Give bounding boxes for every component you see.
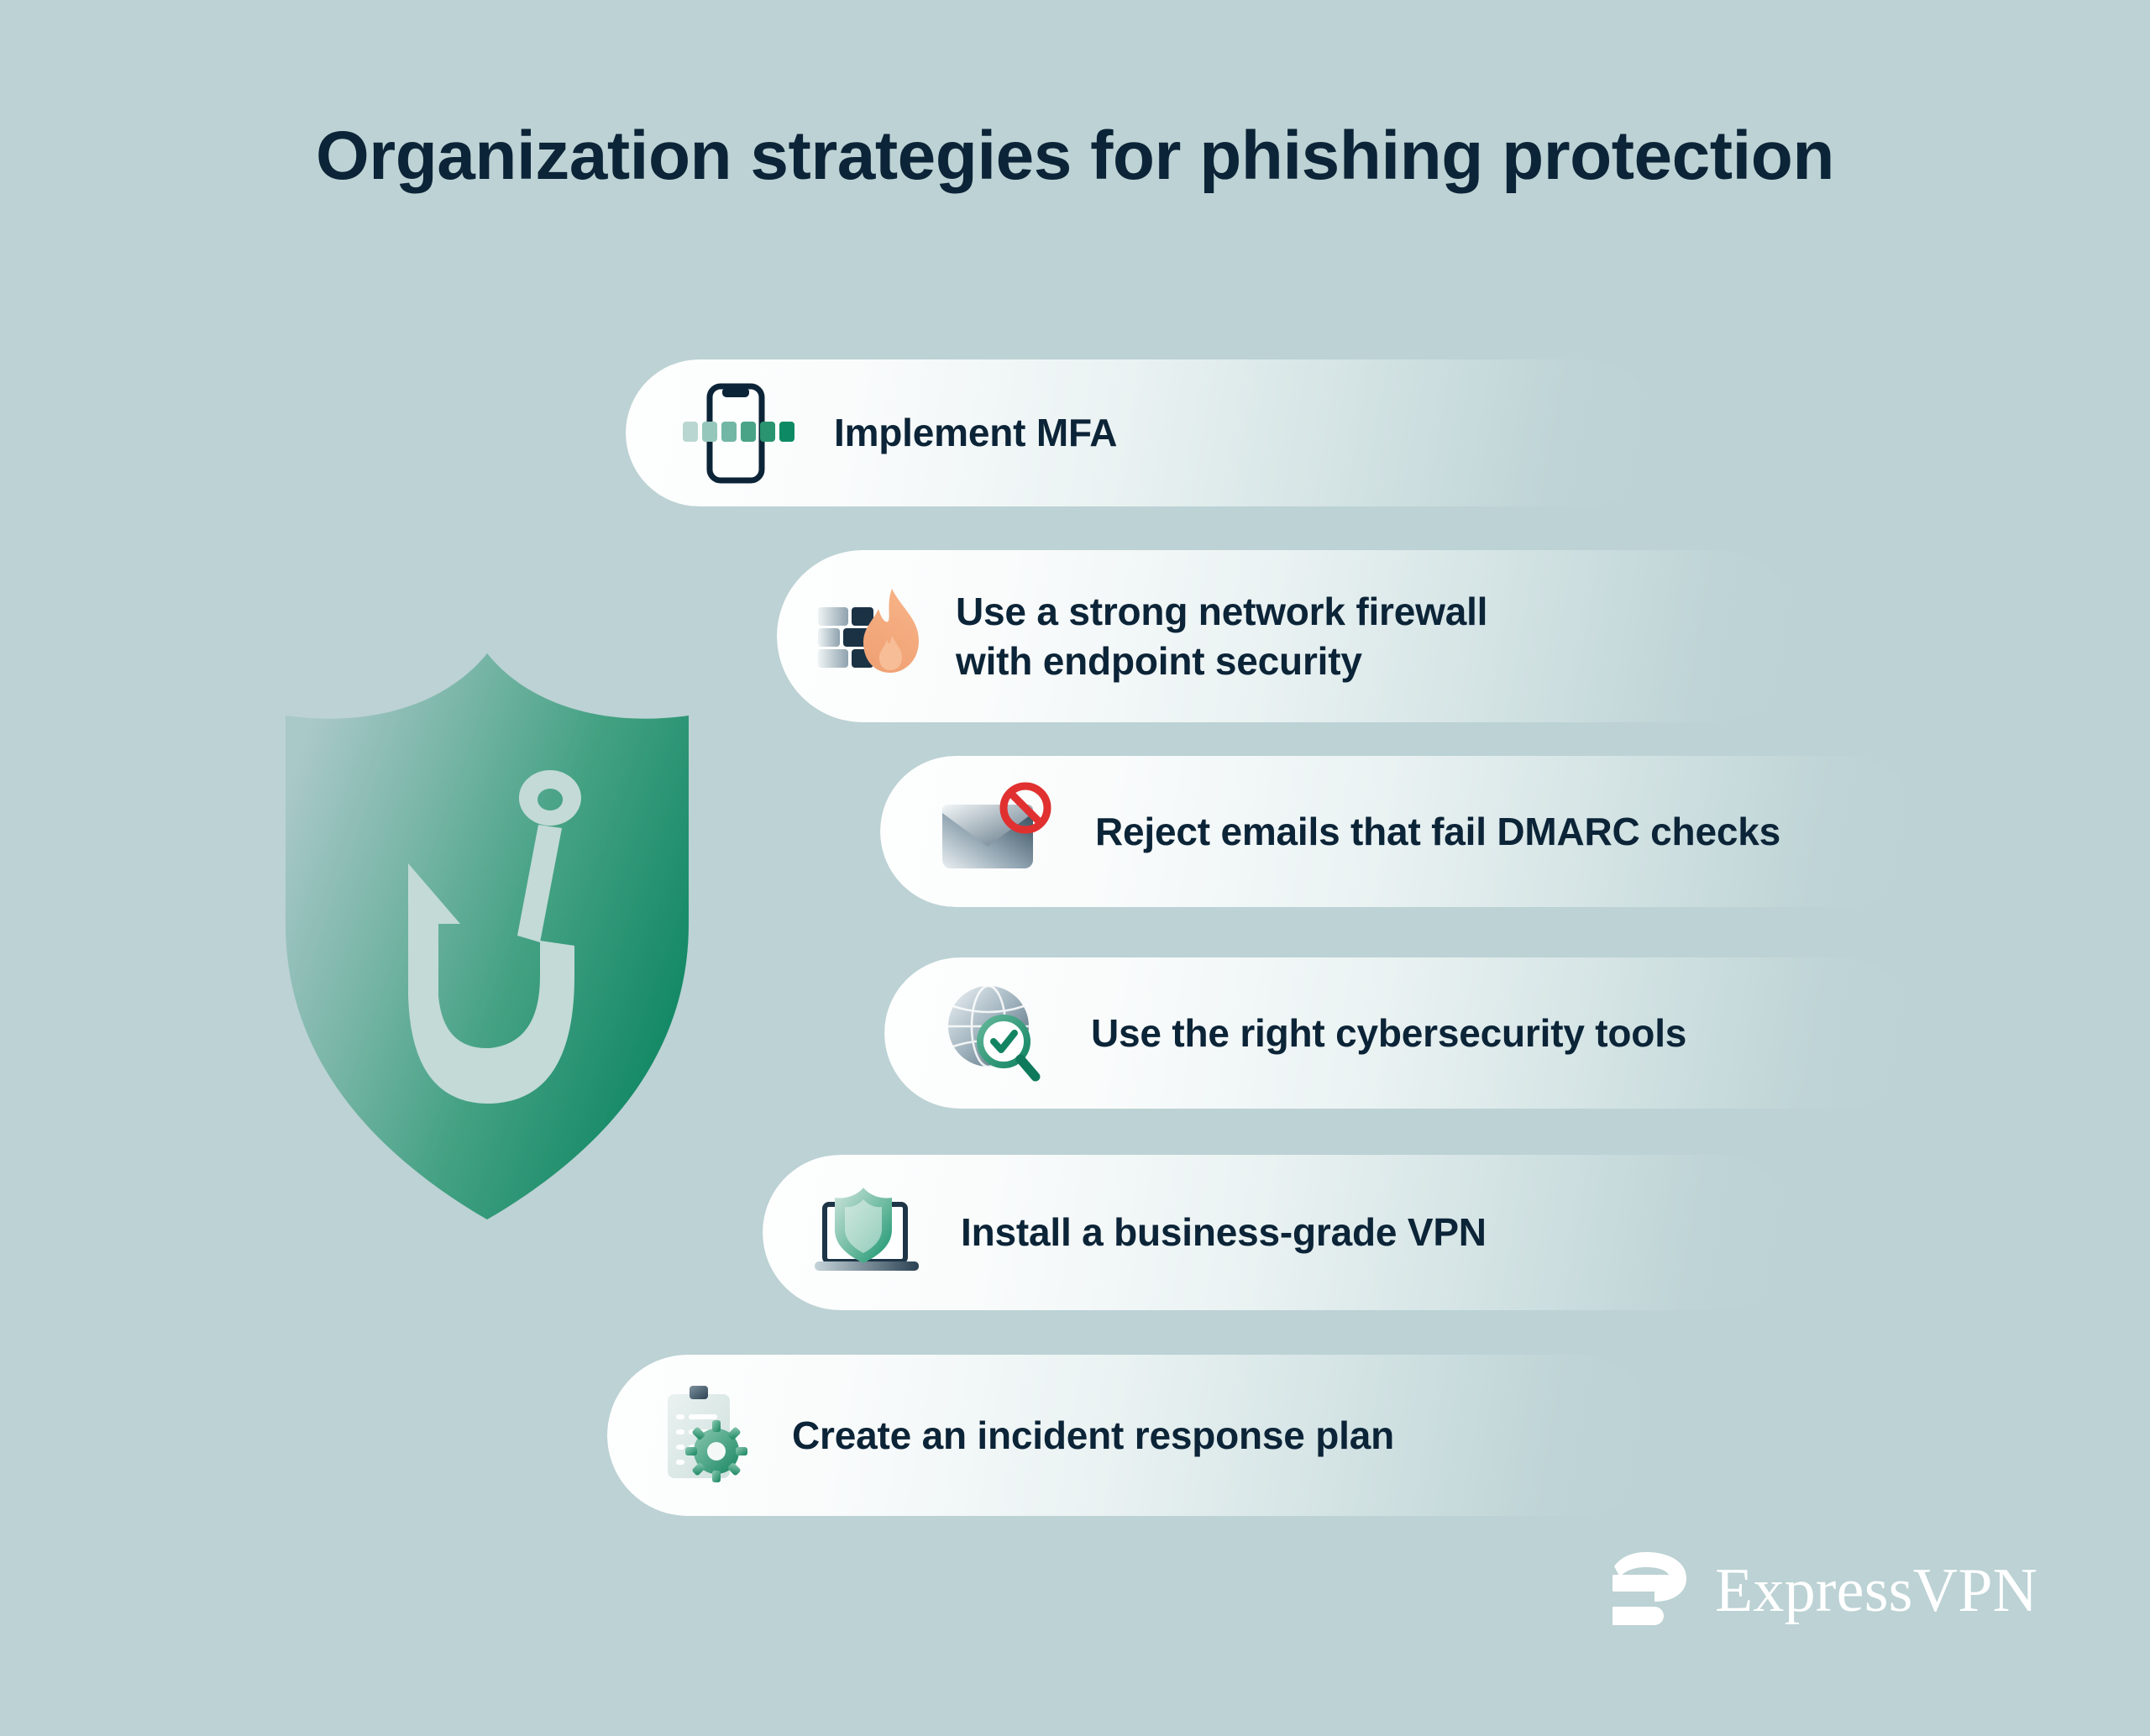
globe-magnifier-check-icon [941, 979, 1059, 1087]
strategy-label: Use the right cybersecurity tools [1091, 1009, 1917, 1058]
strategy-item-implement-mfa[interactable]: Implement MFA [626, 359, 1659, 506]
shield-with-fishing-hook-icon [252, 647, 722, 1235]
strategy-label: Use a strong network firewall with endpo… [956, 587, 1801, 686]
strategy-item-business-vpn[interactable]: Install a business-grade VPN [763, 1155, 1796, 1310]
phone-otp-icon [674, 378, 800, 489]
strategy-item-cybersecurity-tools[interactable]: Use the right cybersecurity tools [884, 957, 1917, 1109]
strategy-item-network-firewall[interactable]: Use a strong network firewall with endpo… [777, 550, 1801, 722]
strategy-item-reject-dmarc-fail[interactable]: Reject emails that fail DMARC checks [880, 756, 1922, 907]
clipboard-gear-icon [656, 1381, 765, 1490]
infographic-canvas: Organization strategies for phishing pro… [0, 0, 2150, 1736]
laptop-shield-icon [811, 1183, 929, 1283]
brand-name: ExpressVPN [1715, 1560, 2037, 1622]
brand-logo: ExpressVPN [1612, 1550, 2037, 1631]
firewall-flame-icon [815, 584, 932, 690]
strategy-label: Install a business-grade VPN [961, 1208, 1796, 1257]
strategy-label: Create an incident response plan [792, 1411, 1657, 1461]
strategy-item-incident-response-plan[interactable]: Create an incident response plan [607, 1355, 1657, 1516]
email-blocked-icon [937, 779, 1063, 884]
strategy-label: Implement MFA [834, 408, 1659, 458]
strategy-label: Reject emails that fail DMARC checks [1095, 807, 1922, 857]
page-title: Organization strategies for phishing pro… [0, 120, 2150, 192]
expressvpn-e-logo-icon [1612, 1550, 1693, 1631]
